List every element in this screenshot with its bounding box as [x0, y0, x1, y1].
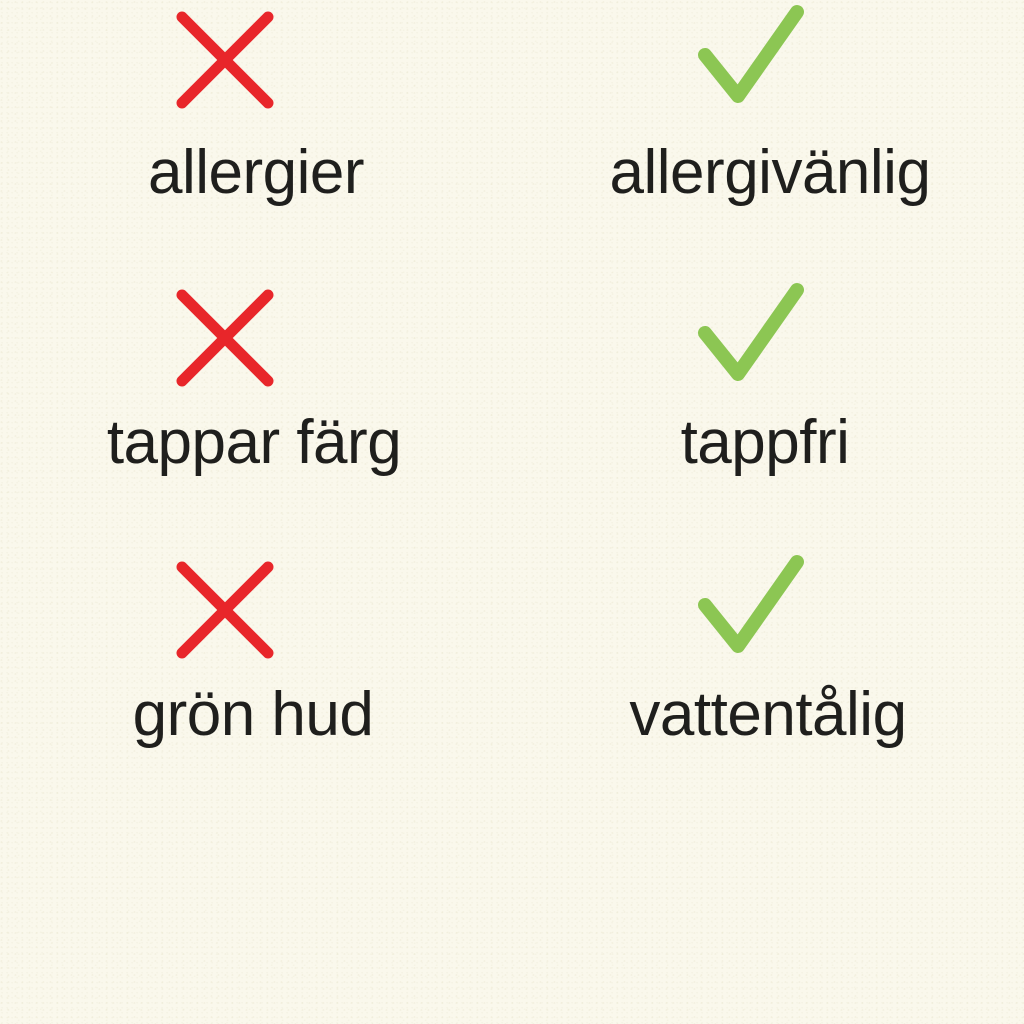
cross-icon: [165, 550, 285, 670]
comparison-infographic: allergier allergivänlig tappar fä: [0, 0, 1024, 1024]
cross-icon: [165, 0, 285, 120]
comparison-label: vattentålig: [629, 684, 906, 746]
comparison-grid: allergier allergivänlig tappar fä: [0, 0, 1024, 900]
comparison-cell-negative-3: grön hud: [0, 540, 512, 810]
comparison-label: grön hud: [133, 684, 374, 746]
check-icon: [691, 550, 811, 670]
comparison-cell-positive-1: allergivänlig: [512, 0, 1024, 270]
comparison-cell-positive-3: vattentålig: [512, 540, 1024, 810]
check-icon: [691, 278, 811, 398]
comparison-label: tappar färg: [107, 412, 401, 474]
comparison-label: allergivänlig: [610, 142, 931, 204]
comparison-label: tappfri: [681, 412, 850, 474]
check-icon: [691, 0, 811, 120]
comparison-cell-negative-2: tappar färg: [0, 270, 512, 540]
comparison-label: allergier: [148, 142, 364, 204]
comparison-cell-negative-1: allergier: [0, 0, 512, 270]
comparison-cell-positive-2: tappfri: [512, 270, 1024, 540]
cross-icon: [165, 278, 285, 398]
